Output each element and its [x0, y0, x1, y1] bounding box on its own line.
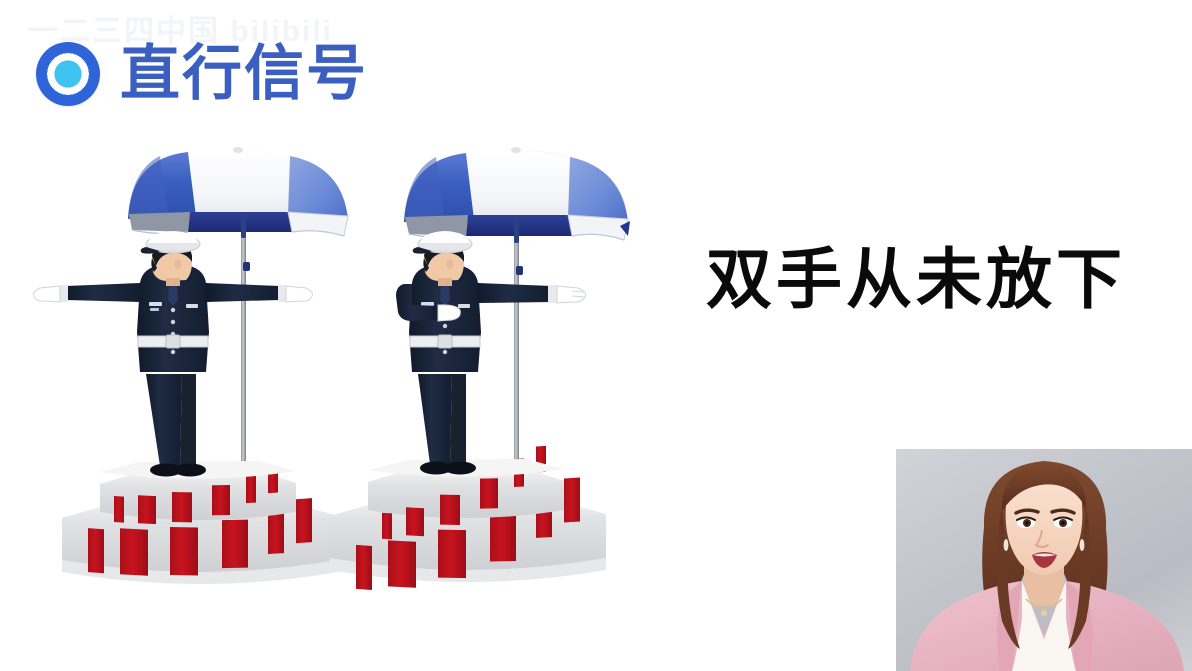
pedestal-left	[62, 461, 338, 584]
officer-right	[396, 231, 586, 475]
presenter-webcam-inset[interactable]	[896, 449, 1192, 671]
officer-left	[34, 231, 313, 477]
slide-canvas: 一二三四中国 bilibili 直行信号 双手从未放下	[0, 0, 1192, 671]
earring-left	[1004, 539, 1009, 551]
traffic-post-right	[330, 147, 630, 590]
umbrella-left	[128, 147, 348, 236]
earring-right	[1080, 539, 1085, 551]
traffic-post-left	[34, 147, 348, 584]
